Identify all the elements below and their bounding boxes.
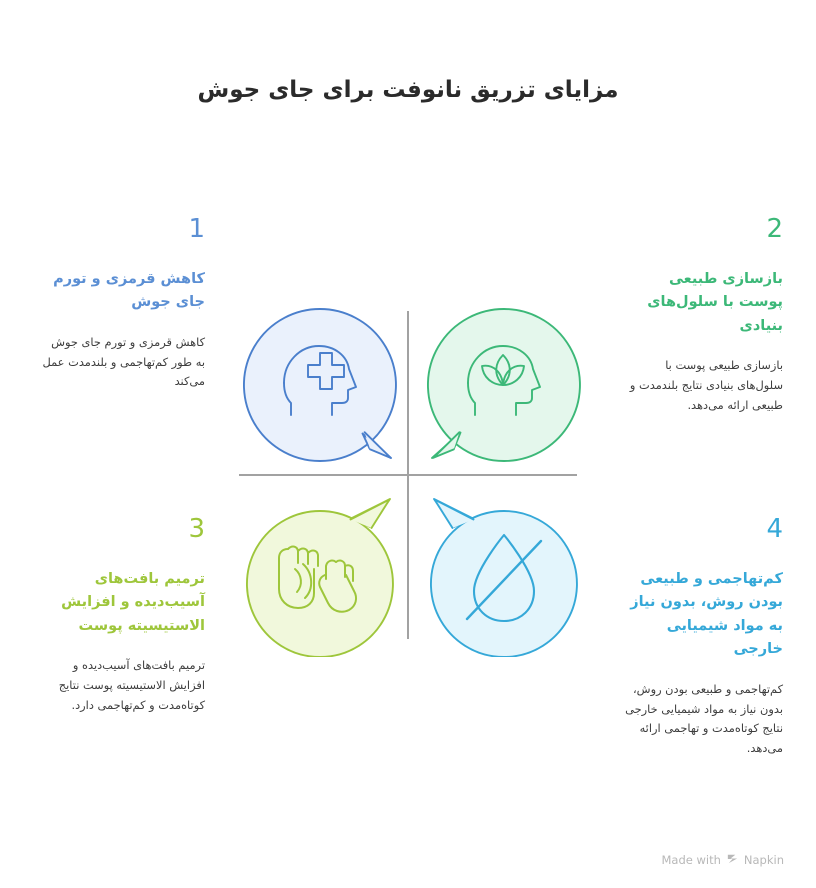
- no-water-drop-speech-bubble-icon: [424, 497, 584, 657]
- quadrant-1-body: کاهش قرمزی و تورم جای جوش به طور کم‌تهاج…: [42, 333, 205, 392]
- napkin-logo-icon: [726, 852, 739, 868]
- quadrant-4: 4 کم‌تهاجمی و طبیعی بودن روش، بدون نیاز …: [620, 516, 783, 758]
- napkin-brand-label: Napkin: [744, 853, 784, 867]
- quadrant-1-number: 1: [42, 216, 205, 242]
- quadrant-2-heading: بازسازی طبیعی پوست با سلول‌های بنیادی: [620, 268, 783, 338]
- quadrant-4-number: 4: [620, 516, 783, 542]
- quadrant-1: 1 کاهش قرمزی و تورم جای جوش کاهش قرمزی و…: [42, 216, 205, 392]
- quadrant-2-body: بازسازی طبیعی پوست با سلول‌های بنیادی نت…: [620, 356, 783, 415]
- napkin-watermark: Made with Napkin: [0, 852, 800, 868]
- made-with-label: Made with: [662, 853, 721, 867]
- quadrant-1-heading: کاهش قرمزی و تورم جای جوش: [42, 268, 205, 315]
- divider-horizontal: [239, 474, 577, 476]
- head-lotus-speech-bubble-icon: [424, 305, 584, 465]
- page-title: مزایای تزریق نانوفت برای جای جوش: [0, 74, 816, 106]
- quadrant-4-heading: کم‌تهاجمی و طبیعی بودن روش، بدون نیاز به…: [620, 568, 783, 662]
- quadrant-3-body: ترمیم بافت‌های آسیب‌دیده و افزایش الاستی…: [42, 656, 205, 715]
- quadrant-3-heading: ترمیم بافت‌های آسیب‌دیده و افزایش الاستی…: [42, 568, 205, 638]
- quadrant-2: 2 بازسازی طبیعی پوست با سلول‌های بنیادی …: [620, 216, 783, 415]
- quadrant-2-number: 2: [620, 216, 783, 242]
- quadrant-4-body: کم‌تهاجمی و طبیعی بودن روش، بدون نیاز به…: [620, 680, 783, 758]
- quadrant-3-number: 3: [42, 516, 205, 542]
- quadrant-3: 3 ترمیم بافت‌های آسیب‌دیده و افزایش الاس…: [42, 516, 205, 715]
- hand-touch-speech-bubble-icon: [240, 497, 400, 657]
- head-medical-cross-speech-bubble-icon: [240, 305, 400, 465]
